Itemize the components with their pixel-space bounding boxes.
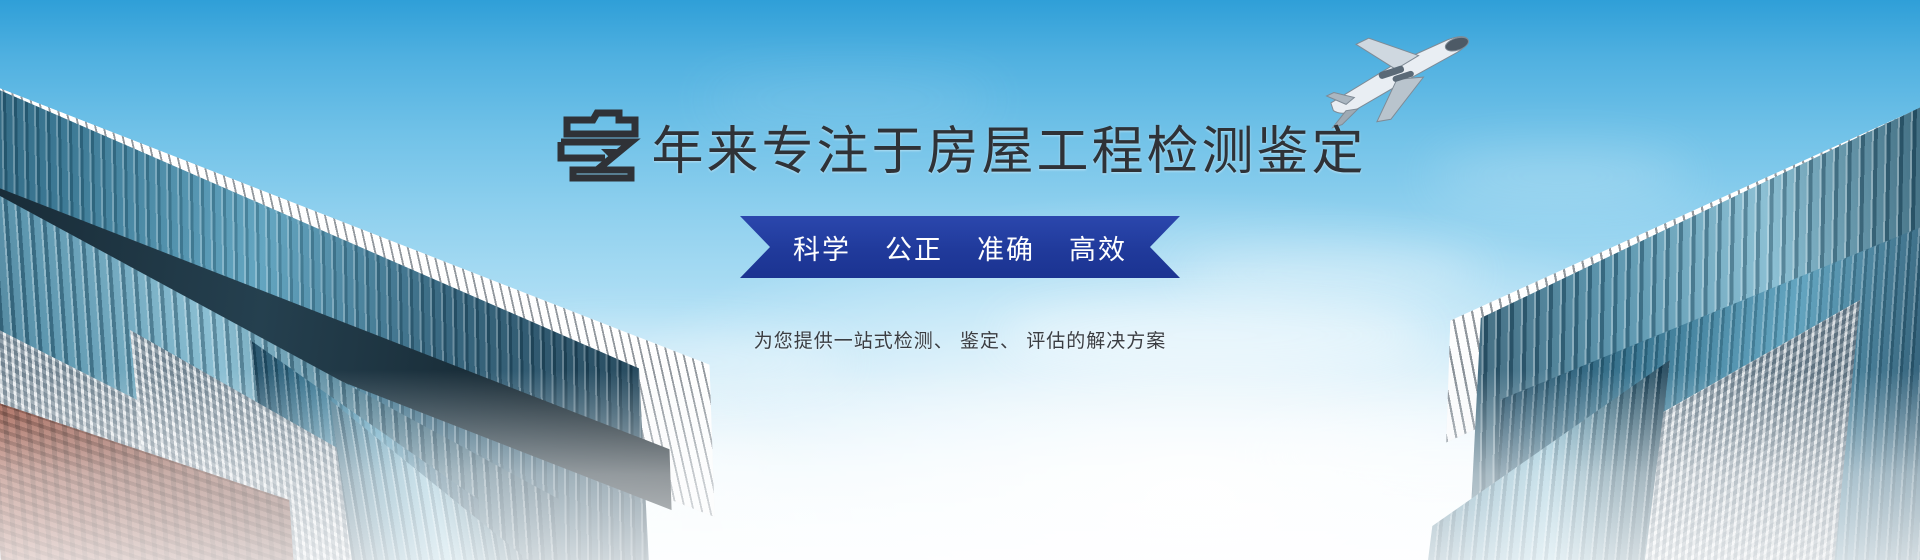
horizon-haze <box>0 370 1920 560</box>
slogan-item-0: 科学 <box>793 235 851 265</box>
slogan-item-2: 准确 <box>977 235 1035 265</box>
hero-banner: 年来专注于房屋工程检测鉴定 科学公正准确高效 为您提供一站式检测、 鉴定、 评估… <box>0 0 1920 560</box>
slogan-item-1: 公正 <box>885 235 943 265</box>
cloud <box>1180 250 1480 296</box>
banner-subtitle: 为您提供一站式检测、 鉴定、 评估的解决方案 <box>754 326 1167 353</box>
slogan-ribbon-text: 科学公正准确高效 <box>776 228 1144 267</box>
slogan-item-3: 高效 <box>1069 235 1127 265</box>
page-title: 年来专注于房屋工程检测鉴定 <box>651 126 1366 178</box>
slogan-ribbon: 科学公正准确高效 <box>740 216 1180 278</box>
slogan-ribbon-wrap: 科学公正准确高效 <box>740 216 1180 278</box>
headline-row: 年来专注于房屋工程检测鉴定 <box>553 108 1366 178</box>
duo-character-mark-icon <box>553 108 645 182</box>
cloud <box>1430 150 1690 202</box>
